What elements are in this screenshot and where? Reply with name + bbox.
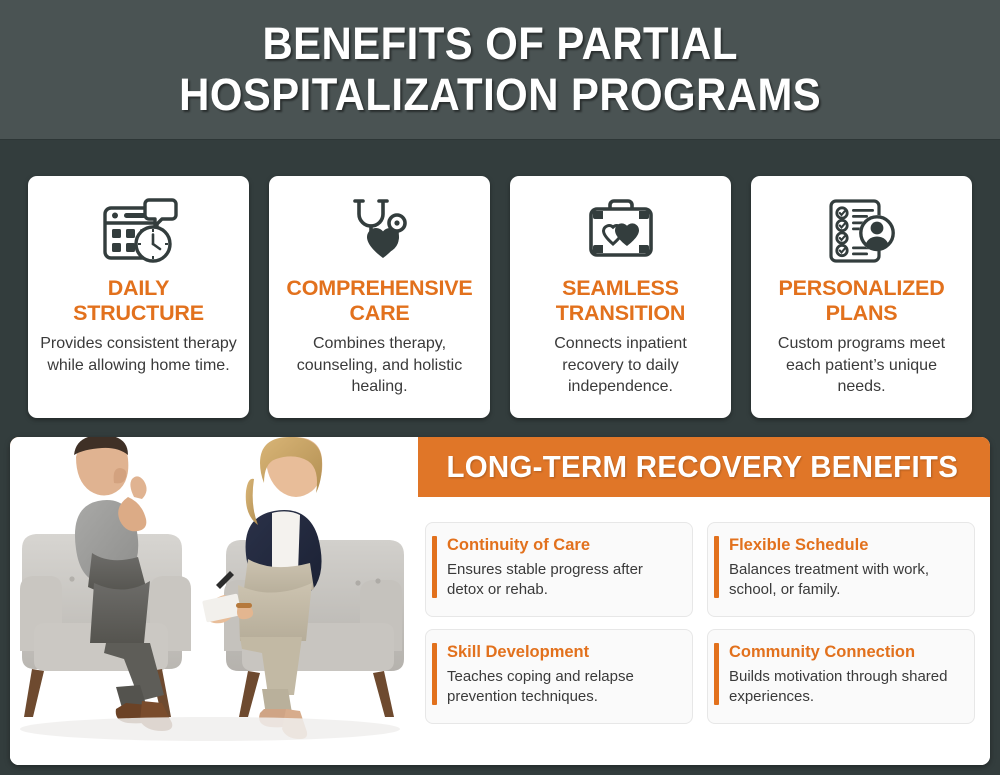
benefit-skill-development[interactable]: Skill Development Teaches coping and rel… [425, 629, 693, 724]
card-title-line-2: CARE [286, 301, 472, 326]
card-body-text: Connects inpatient recovery to daily ind… [522, 333, 719, 397]
header-band: BENEFITS OF PARTIAL HOSPITALIZATION PROG… [0, 0, 1000, 140]
card-title: DAILY STRUCTURE [73, 276, 204, 326]
card-title-line-1: SEAMLESS [556, 276, 685, 301]
card-title-line-1: PERSONALIZED [778, 276, 944, 301]
therapy-session-photo [10, 437, 418, 765]
benefit-title: Skill Development [447, 643, 678, 663]
card-body-text: Combines therapy, counseling, and holist… [281, 333, 478, 397]
panel-body: Continuity of Care Ensures stable progre… [10, 497, 990, 765]
infographic-root: BENEFITS OF PARTIAL HOSPITALIZATION PROG… [0, 0, 1000, 775]
calendar-clock-icon [100, 192, 178, 270]
benefit-card-row: DAILY STRUCTURE Provides consistent ther… [28, 176, 972, 418]
benefit-community-connection[interactable]: Community Connection Builds motivation t… [707, 629, 975, 724]
card-body-text: Provides consistent therapy while allowi… [40, 333, 237, 376]
section-title: LONG-TERM RECOVERY BENEFITS [447, 449, 959, 485]
benefit-flexible-schedule[interactable]: Flexible Schedule Balances treatment wit… [707, 522, 975, 617]
page-title-line-2: HOSPITALIZATION PROGRAMS [179, 70, 821, 120]
card-title-line-1: COMPREHENSIVE [286, 276, 472, 301]
card-title-line-2: PLANS [778, 301, 944, 326]
page-title: BENEFITS OF PARTIAL HOSPITALIZATION PROG… [179, 19, 821, 120]
benefit-text: Ensures stable progress after detox or r… [447, 560, 678, 601]
page-title-line-1: BENEFITS OF PARTIAL [179, 19, 821, 69]
stethoscope-heart-icon [341, 192, 419, 270]
card-body-text: Custom programs meet each patient’s uniq… [763, 333, 960, 397]
checklist-person-icon [823, 192, 901, 270]
medical-briefcase-hearts-icon [582, 192, 660, 270]
benefit-title: Continuity of Care [447, 536, 678, 556]
card-title-line-2: STRUCTURE [73, 301, 204, 326]
card-title: SEAMLESS TRANSITION [556, 276, 685, 326]
card-comprehensive-care[interactable]: COMPREHENSIVE CARE Combines therapy, cou… [269, 176, 490, 418]
long-term-benefits-panel: LONG-TERM RECOVERY BENEFITS [10, 437, 990, 765]
card-title: COMPREHENSIVE CARE [286, 276, 472, 326]
benefit-title: Community Connection [729, 643, 960, 663]
card-daily-structure[interactable]: DAILY STRUCTURE Provides consistent ther… [28, 176, 249, 418]
card-title-line-1: DAILY [73, 276, 204, 301]
card-seamless-transition[interactable]: SEAMLESS TRANSITION Connects inpatient r… [510, 176, 731, 418]
benefit-grid: Continuity of Care Ensures stable progre… [425, 522, 975, 724]
card-personalized-plans[interactable]: PERSONALIZED PLANS Custom programs meet … [751, 176, 972, 418]
benefit-title: Flexible Schedule [729, 536, 960, 556]
benefit-text: Teaches coping and relapse prevention te… [447, 667, 678, 708]
card-title: PERSONALIZED PLANS [778, 276, 944, 326]
card-title-line-2: TRANSITION [556, 301, 685, 326]
benefit-continuity-of-care[interactable]: Continuity of Care Ensures stable progre… [425, 522, 693, 617]
benefit-text: Builds motivation through shared experie… [729, 667, 960, 708]
benefit-text: Balances treatment with work, school, or… [729, 560, 960, 601]
